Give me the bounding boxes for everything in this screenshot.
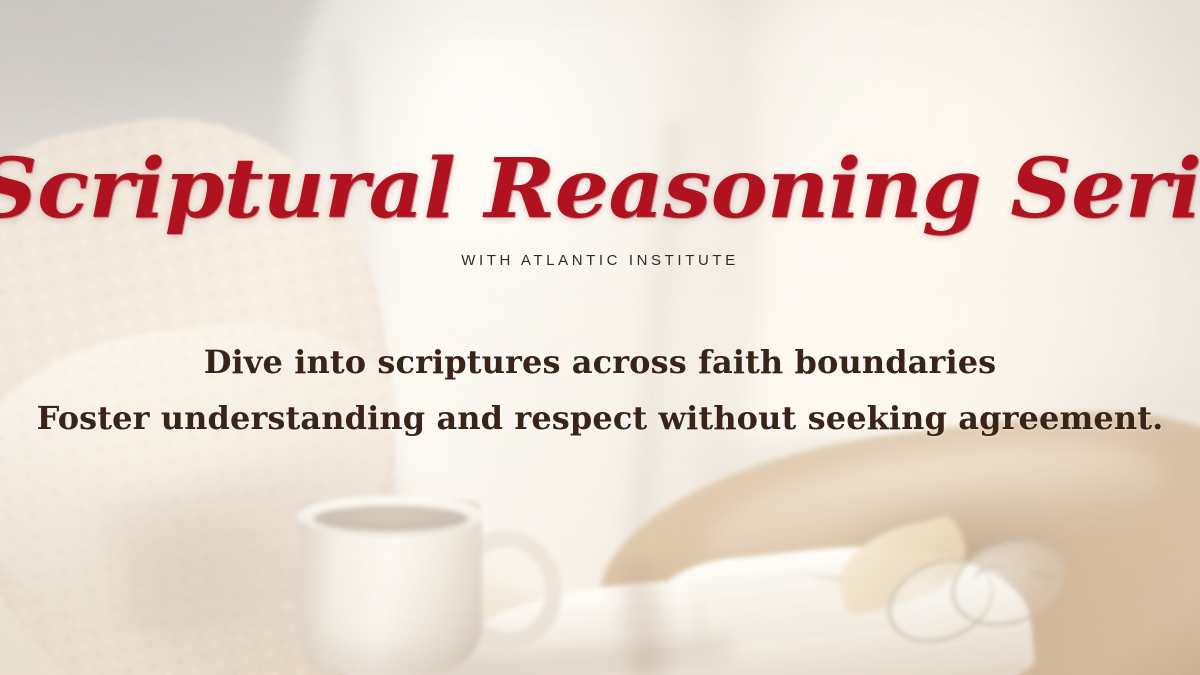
event-presenter: WITH ATLANTIC INSTITUTE xyxy=(0,252,1200,269)
tagline-line-1: Dive into scriptures across faith bounda… xyxy=(0,334,1200,390)
event-title: Scriptural Reasoning Series xyxy=(0,148,1200,232)
banner-content: Scriptural Reasoning Series WITH ATLANTI… xyxy=(0,0,1200,675)
event-banner: Scriptural Reasoning Series WITH ATLANTI… xyxy=(0,0,1200,675)
event-tagline: Dive into scriptures across faith bounda… xyxy=(0,334,1200,446)
tagline-line-2: Foster understanding and respect without… xyxy=(0,390,1200,446)
